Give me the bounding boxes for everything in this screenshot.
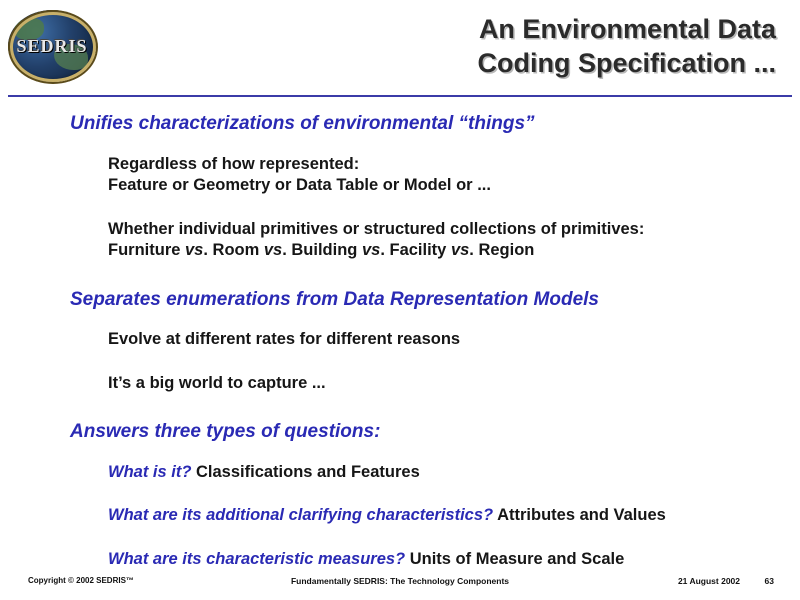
logo-label: SEDRIS xyxy=(8,36,96,57)
section-heading-2: Separates enumerations from Data Represe… xyxy=(70,288,800,312)
bullet-1-1-line1: Regardless of how represented: xyxy=(108,155,359,173)
text-vs-1: vs xyxy=(185,241,203,259)
text-vs-2: vs xyxy=(264,241,282,259)
question-1: What is it? Classifications and Features xyxy=(108,462,768,483)
spacer xyxy=(0,317,800,329)
bullet-2-2: It’s a big world to capture ... xyxy=(108,373,768,394)
question-2-answer: Attributes and Values xyxy=(493,506,666,524)
section-heading-3: Answers three types of questions: xyxy=(70,420,800,444)
text-vs-4: vs xyxy=(451,241,469,259)
section-heading-1: Unifies characterizations of environment… xyxy=(70,112,800,136)
slide-header: SEDRIS An Environmental Data Coding Spec… xyxy=(0,0,800,96)
bullet-2-1: Evolve at different rates for different … xyxy=(108,329,768,350)
text-region: . Region xyxy=(469,241,534,259)
bullet-1-2-line2: Furniture vs. Room vs. Building vs. Faci… xyxy=(108,241,534,259)
sedris-logo: SEDRIS xyxy=(8,10,96,82)
question-1-answer: Classifications and Features xyxy=(191,463,419,481)
question-1-label: What is it? xyxy=(108,463,191,481)
slide-footer: Copyright © 2002 SEDRIS™ Fundamentally S… xyxy=(0,566,800,600)
text-furniture: Furniture xyxy=(108,241,185,259)
footer-page-number: 63 xyxy=(765,576,774,586)
spacer xyxy=(0,487,800,505)
text-building: . Building xyxy=(282,241,362,259)
footer-date: 21 August 2002 xyxy=(678,576,740,586)
bullet-1-2-line1: Whether individual primitives or structu… xyxy=(108,220,644,238)
slide-body: Unifies characterizations of environment… xyxy=(0,112,800,574)
page-title-line1: An Environmental Data xyxy=(216,12,776,46)
bullet-1-2: Whether individual primitives or structu… xyxy=(108,219,768,262)
page-title-line2: Coding Specification ... xyxy=(216,46,776,80)
bullet-1-1: Regardless of how represented: Feature o… xyxy=(108,154,768,197)
page-title: An Environmental Data Coding Specificati… xyxy=(216,12,776,80)
text-vs-3: vs xyxy=(362,241,380,259)
spacer xyxy=(0,266,800,288)
spacer xyxy=(0,355,800,373)
text-room: . Room xyxy=(203,241,264,259)
question-2: What are its additional clarifying chara… xyxy=(108,505,768,526)
bullet-1-1-line2: Feature or Geometry or Data Table or Mod… xyxy=(108,176,491,194)
question-2-label: What are its additional clarifying chara… xyxy=(108,506,493,524)
spacer xyxy=(0,398,800,420)
spacer xyxy=(0,531,800,549)
text-facility: . Facility xyxy=(380,241,451,259)
spacer xyxy=(0,450,800,462)
header-divider xyxy=(8,95,792,97)
spacer xyxy=(0,142,800,154)
spacer xyxy=(0,201,800,219)
